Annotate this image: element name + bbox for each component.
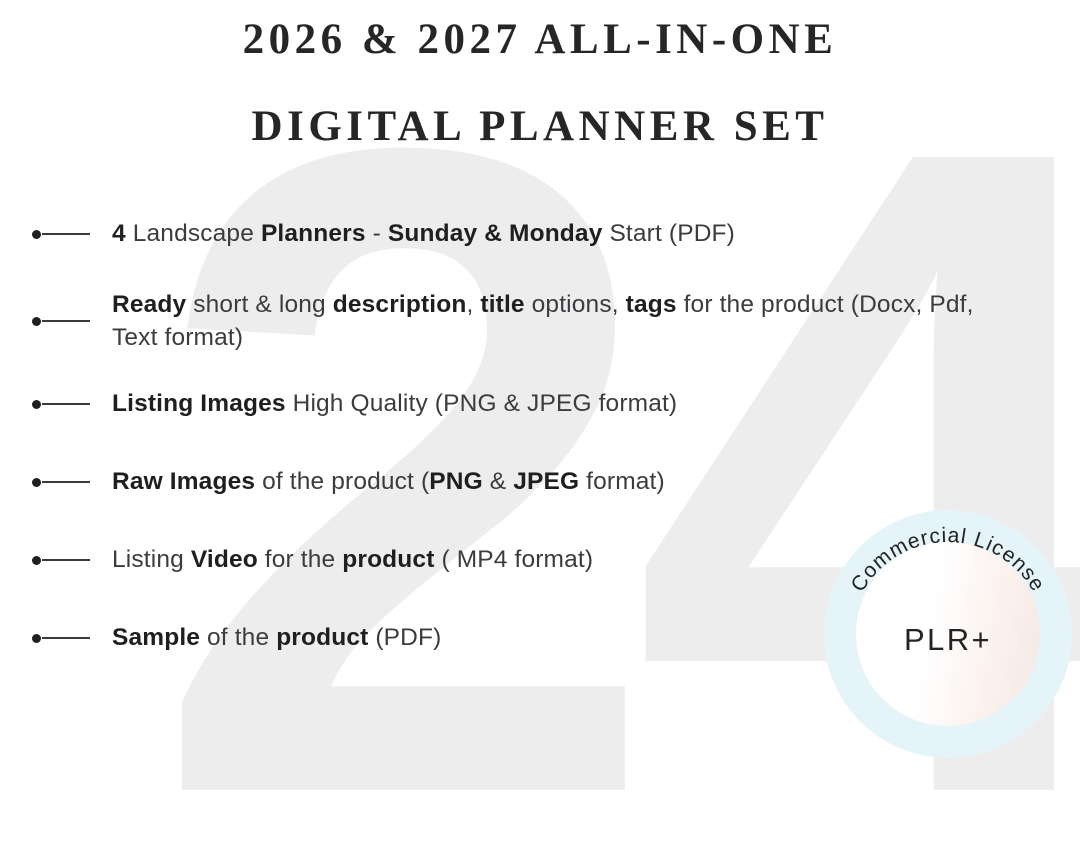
feature-text: 4 Landscape Planners - Sunday & Monday S…	[112, 217, 735, 250]
dot-dash-bullet-icon	[32, 230, 90, 239]
title-line-1: 2026 & 2027 ALL-IN-ONE	[0, 18, 1080, 61]
badge-center-label: PLR+	[824, 622, 1072, 658]
dot-dash-bullet-icon	[32, 400, 90, 409]
page-title: 2026 & 2027 ALL-IN-ONE DIGITAL PLANNER S…	[0, 18, 1080, 148]
list-item: Ready short & long description, title op…	[0, 283, 1080, 359]
list-item: Raw Images of the product (PNG & JPEG fo…	[0, 453, 1080, 511]
commercial-license-badge: Commercial License PLR+	[824, 510, 1072, 758]
title-line-2: DIGITAL PLANNER SET	[0, 105, 1080, 148]
feature-text: Raw Images of the product (PNG & JPEG fo…	[112, 465, 665, 498]
svg-text:Commercial License: Commercial License	[847, 524, 1050, 596]
dot-dash-bullet-icon	[32, 317, 90, 326]
planner-promo-page: 24 2026 & 2027 ALL-IN-ONE DIGITAL PLANNE…	[0, 0, 1080, 859]
feature-text: Ready short & long description, title op…	[112, 288, 992, 354]
list-item: 4 Landscape Planners - Sunday & Monday S…	[0, 205, 1080, 263]
dot-dash-bullet-icon	[32, 478, 90, 487]
feature-text: Sample of the product (PDF)	[112, 621, 441, 654]
feature-text: Listing Video for the product ( MP4 form…	[112, 543, 593, 576]
list-item: Listing Images High Quality (PNG & JPEG …	[0, 375, 1080, 433]
badge-arc-label: Commercial License	[847, 524, 1050, 596]
dot-dash-bullet-icon	[32, 556, 90, 565]
dot-dash-bullet-icon	[32, 634, 90, 643]
feature-text: Listing Images High Quality (PNG & JPEG …	[112, 387, 677, 420]
